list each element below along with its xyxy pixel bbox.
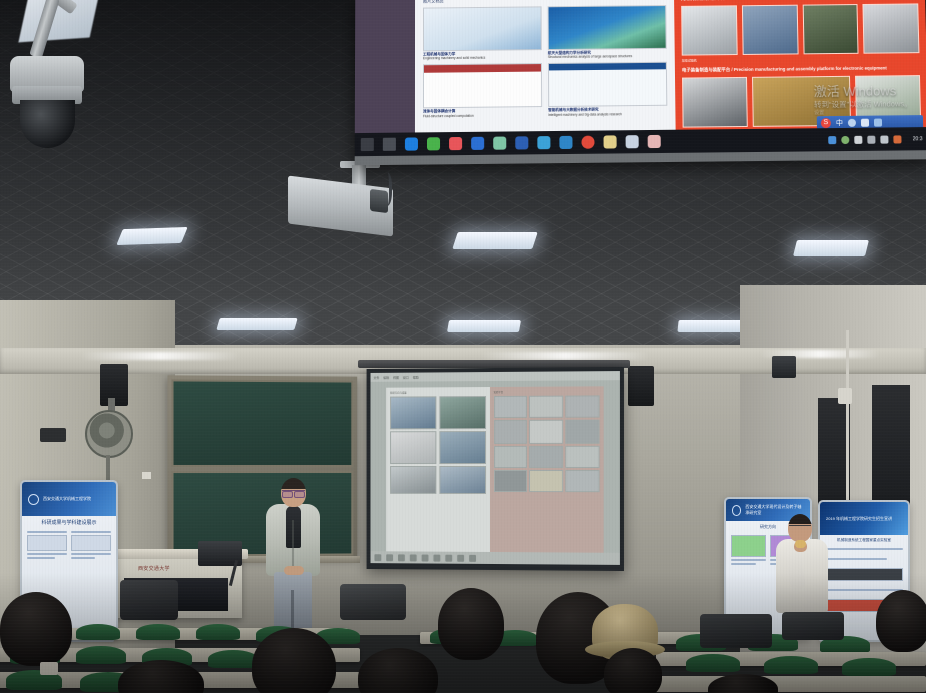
projected-photo-grid-3 <box>494 446 600 468</box>
menu-edit: 编辑 <box>383 375 389 379</box>
projected-page-area: 科研方向与成果 实验平台 <box>371 380 620 553</box>
word-icon[interactable] <box>515 136 528 149</box>
wall-speaker-far-right <box>772 356 796 378</box>
bag-on-desk <box>340 584 406 620</box>
projected-taskbar-icon <box>374 554 381 561</box>
projected-figure <box>439 431 485 464</box>
projected-taskbar-icon <box>386 554 393 561</box>
projected-figure <box>439 396 485 429</box>
ceiling-light-2 <box>452 232 538 249</box>
volume-icon[interactable] <box>868 135 876 143</box>
poster-figure <box>825 568 903 581</box>
projected-taskbar-icon <box>422 554 429 561</box>
red-photo-captions-1: 加载试验机 <box>682 57 920 63</box>
document-left-page: 图片文档页 工程机械与固体力学 Engineering machinery an… <box>415 0 676 132</box>
wall-conduit <box>846 330 849 520</box>
projected-photo <box>494 446 528 468</box>
watermark-line-1: 激活 Windows <box>814 82 912 101</box>
glasses-icon <box>282 490 305 495</box>
poster-header-text: 2019 年机械工程学院研究生招生宣讲 <box>826 516 892 522</box>
small-wall-box <box>40 428 66 442</box>
poster-text-line <box>27 553 67 555</box>
projection-screen[interactable]: 文件 编辑 视图 窗口 帮助 科研方向与成果 <box>367 367 624 571</box>
poster-text-line <box>71 553 111 555</box>
projected-taskbar-icon <box>469 554 476 561</box>
menu-help: 帮助 <box>413 375 419 379</box>
pdf-icon[interactable] <box>626 135 639 148</box>
audience-head <box>0 592 72 666</box>
presenter-jeans <box>274 572 312 634</box>
antivirus-icon[interactable] <box>405 137 418 150</box>
figure-grid: 工程机械与固体力学 Engineering machinery and soli… <box>423 5 667 118</box>
figure-caption-en: Fluid-structure coupled computation <box>423 114 474 119</box>
lab-photo <box>682 76 748 127</box>
wall-speaker-right <box>628 366 654 406</box>
projected-image: 文件 编辑 视图 窗口 帮助 科研方向与成果 <box>371 371 620 565</box>
display-icon[interactable] <box>854 135 862 143</box>
projected-taskbar-icon <box>445 554 452 561</box>
projected-taskbar-icon <box>398 554 405 561</box>
poster-header: 2019 年机械工程学院研究生招生宣讲 <box>820 502 908 535</box>
poster-text-line <box>825 558 887 560</box>
projected-figure <box>439 466 485 494</box>
figure-caption: 流体与固体耦合计算 Fluid-structure coupled comput… <box>423 109 542 119</box>
projected-taskbar-icon <box>433 554 440 561</box>
projected-figure <box>390 466 436 494</box>
poster-text-line <box>27 557 55 559</box>
projected-photo <box>529 396 563 418</box>
lab-photo <box>863 3 920 53</box>
poster-text-line <box>27 531 67 533</box>
projected-photo <box>565 446 599 468</box>
audience-head <box>438 588 504 660</box>
projected-photo-grid-1 <box>494 395 600 418</box>
figure-caption: 智能机械与大数据分析技术研究 Intelligent machinery and… <box>548 107 667 117</box>
seat <box>208 650 258 668</box>
menu-window: 窗口 <box>403 375 409 379</box>
figure-caption: 工程机械与固体力学 Engineering machinery and soli… <box>423 51 542 61</box>
lab-photo <box>742 5 798 55</box>
chrome-icon[interactable] <box>581 136 594 149</box>
seat <box>136 624 180 640</box>
figure-caption-en: Intelligent machinery and big-data analy… <box>548 112 622 117</box>
poster-title: 科研成果与学科建设展示 <box>22 516 116 529</box>
poster-title: 机械制造系统工程国家重点实验室 <box>820 535 908 546</box>
backpack-on-desk <box>700 614 772 648</box>
ime-keyboard-icon[interactable] <box>861 118 869 126</box>
edge-icon[interactable] <box>559 136 572 149</box>
projected-right-heading: 实验平台 <box>494 389 600 394</box>
poster-figure <box>71 535 111 551</box>
figure-caption: 航天大型结构力学分析研究 Structural mechanics analys… <box>548 50 667 60</box>
figure-caption-en: Structural mechanics analysis of large a… <box>548 55 632 60</box>
projected-right-column: 实验平台 <box>490 386 604 552</box>
chair-back <box>120 580 178 620</box>
projected-taskbar <box>371 551 620 565</box>
projected-document-page: 科研方向与成果 实验平台 <box>386 386 603 552</box>
projected-photo <box>529 420 563 444</box>
projected-photo <box>529 470 563 492</box>
battery-icon[interactable] <box>894 135 902 143</box>
projected-left-heading: 科研方向与成果 <box>390 390 486 395</box>
poster-text-line <box>825 548 903 550</box>
lectern-logo: 西安交通大学 <box>138 565 170 572</box>
figure-image <box>423 6 542 51</box>
poster-text-line <box>731 559 766 561</box>
poster-column <box>71 529 111 561</box>
figure-image <box>423 64 542 109</box>
soffit-light-reflection-2 <box>480 352 650 360</box>
start-icon[interactable] <box>361 138 374 151</box>
document-left-margin <box>355 0 415 133</box>
poster-text-line <box>731 563 756 565</box>
poster-text-line <box>71 531 111 533</box>
wall-display[interactable]: 图片文档页 工程机械与固体力学 Engineering machinery an… <box>355 0 926 165</box>
figure-cell: 智能机械与大数据分析技术研究 Intelligent machinery and… <box>548 62 668 117</box>
figure-image <box>548 62 667 107</box>
projected-photo <box>494 396 528 418</box>
windows-activation-watermark: 激活 Windows 转到“设置”以激活 Windows。 设置 <box>814 82 912 117</box>
projected-photo-grid-4 <box>494 470 600 492</box>
wechat-icon[interactable] <box>427 137 440 150</box>
projected-taskbar-icon <box>410 554 417 561</box>
seat <box>842 658 896 676</box>
seat <box>764 656 818 674</box>
red-photo-row-1 <box>681 3 919 55</box>
soffit-light-reflection-1 <box>80 352 240 360</box>
ime-moon-icon[interactable] <box>848 118 856 126</box>
ime-mode-label[interactable]: 中 <box>836 117 843 127</box>
ceiling-light-5 <box>447 320 521 332</box>
figure-cell: 航天大型结构力学分析研究 Structural mechanics analys… <box>548 5 667 59</box>
network-icon[interactable] <box>828 136 836 144</box>
figure-cell: 流体与固体耦合计算 Fluid-structure coupled comput… <box>423 64 542 119</box>
poster-header-text: 西安交通大学机械工程学院 <box>43 496 91 502</box>
laptop-on-desk <box>782 612 844 640</box>
audience-phone <box>40 662 58 675</box>
figure-caption-en: Engineering machinery and solid mechanic… <box>423 56 485 61</box>
figure-image <box>548 5 667 50</box>
attendee-held-item <box>795 540 806 548</box>
glasses-icon <box>789 525 811 529</box>
lab-photo <box>681 5 737 55</box>
left-page-heading: 图片文档页 <box>423 0 666 5</box>
projected-photo <box>565 470 599 492</box>
audience-head <box>876 590 926 652</box>
university-seal-icon <box>732 505 741 516</box>
system-tray[interactable]: 20:3 <box>828 135 922 144</box>
audience-head <box>118 660 204 693</box>
explorer-icon[interactable] <box>604 135 617 148</box>
ceiling-light-4 <box>216 318 297 330</box>
projector-cable <box>380 172 392 206</box>
projected-photo <box>494 470 528 492</box>
projected-figure <box>390 396 436 429</box>
menu-file: 文件 <box>373 375 379 379</box>
seat <box>686 654 740 672</box>
poster-column <box>27 529 67 561</box>
wall-plate <box>142 472 151 479</box>
notes-icon[interactable] <box>493 137 506 150</box>
figure-cell: 工程机械与固体力学 Engineering machinery and soli… <box>423 6 542 60</box>
fan-blades-icon <box>85 410 133 458</box>
lecture-hall-photo: 图片文档页 工程机械与固体力学 Engineering machinery an… <box>0 0 926 693</box>
sogou-ime-icon[interactable]: S <box>821 118 831 128</box>
audience-head <box>604 648 662 693</box>
poster-header: 西安交通大学机械工程学院 <box>22 482 116 516</box>
seat <box>76 624 120 640</box>
projected-taskbar-icon <box>457 554 464 561</box>
windows-taskbar[interactable]: 20:3 <box>355 127 926 156</box>
tencent-icon[interactable] <box>537 136 550 149</box>
ime-tray-icon[interactable] <box>881 135 889 143</box>
poster-text-line <box>71 557 95 559</box>
projected-photo-grid-2 <box>494 420 600 444</box>
presenter-hands <box>284 566 304 575</box>
projected-photo <box>494 420 528 444</box>
red-section-title-2: 电子装备制造与装配平台 / Precision manufacturing an… <box>682 65 920 73</box>
chalkboard-panel-top <box>172 379 354 467</box>
poster-column <box>731 533 766 567</box>
task-view-icon[interactable] <box>383 138 396 151</box>
media-player-icon[interactable] <box>471 137 484 150</box>
seat <box>196 624 240 640</box>
poster-text-line <box>825 589 903 591</box>
presenter <box>262 478 324 638</box>
audience-head <box>358 648 438 693</box>
red-section-title-1: 先进机械结构实验平台 / Advanced mechanical structu… <box>681 0 918 2</box>
seat <box>76 646 126 664</box>
projected-photo <box>565 420 599 444</box>
projected-figure-grid <box>390 396 486 494</box>
projected-left-column: 科研方向与成果 <box>386 387 489 552</box>
projected-figure <box>390 431 436 464</box>
projected-photo <box>565 395 599 417</box>
lab-photo <box>802 4 859 54</box>
desk-row-right-3 <box>640 676 926 692</box>
university-seal-icon <box>28 494 39 505</box>
poster-figure <box>27 535 67 551</box>
ime-toolbox-icon[interactable] <box>874 118 882 126</box>
reader-icon[interactable] <box>648 135 661 148</box>
ceiling-light-3 <box>793 240 869 256</box>
browser-icon[interactable] <box>449 137 462 150</box>
projected-photo <box>529 446 563 468</box>
poster-columns <box>22 529 116 561</box>
menu-view: 视图 <box>393 375 399 379</box>
cloud-icon[interactable] <box>841 135 849 143</box>
wall-junction-box <box>838 388 852 404</box>
poster-figure <box>731 535 766 557</box>
taskbar-clock[interactable]: 20:3 <box>913 136 923 142</box>
photo-caption: 加载试验机 <box>682 58 697 62</box>
